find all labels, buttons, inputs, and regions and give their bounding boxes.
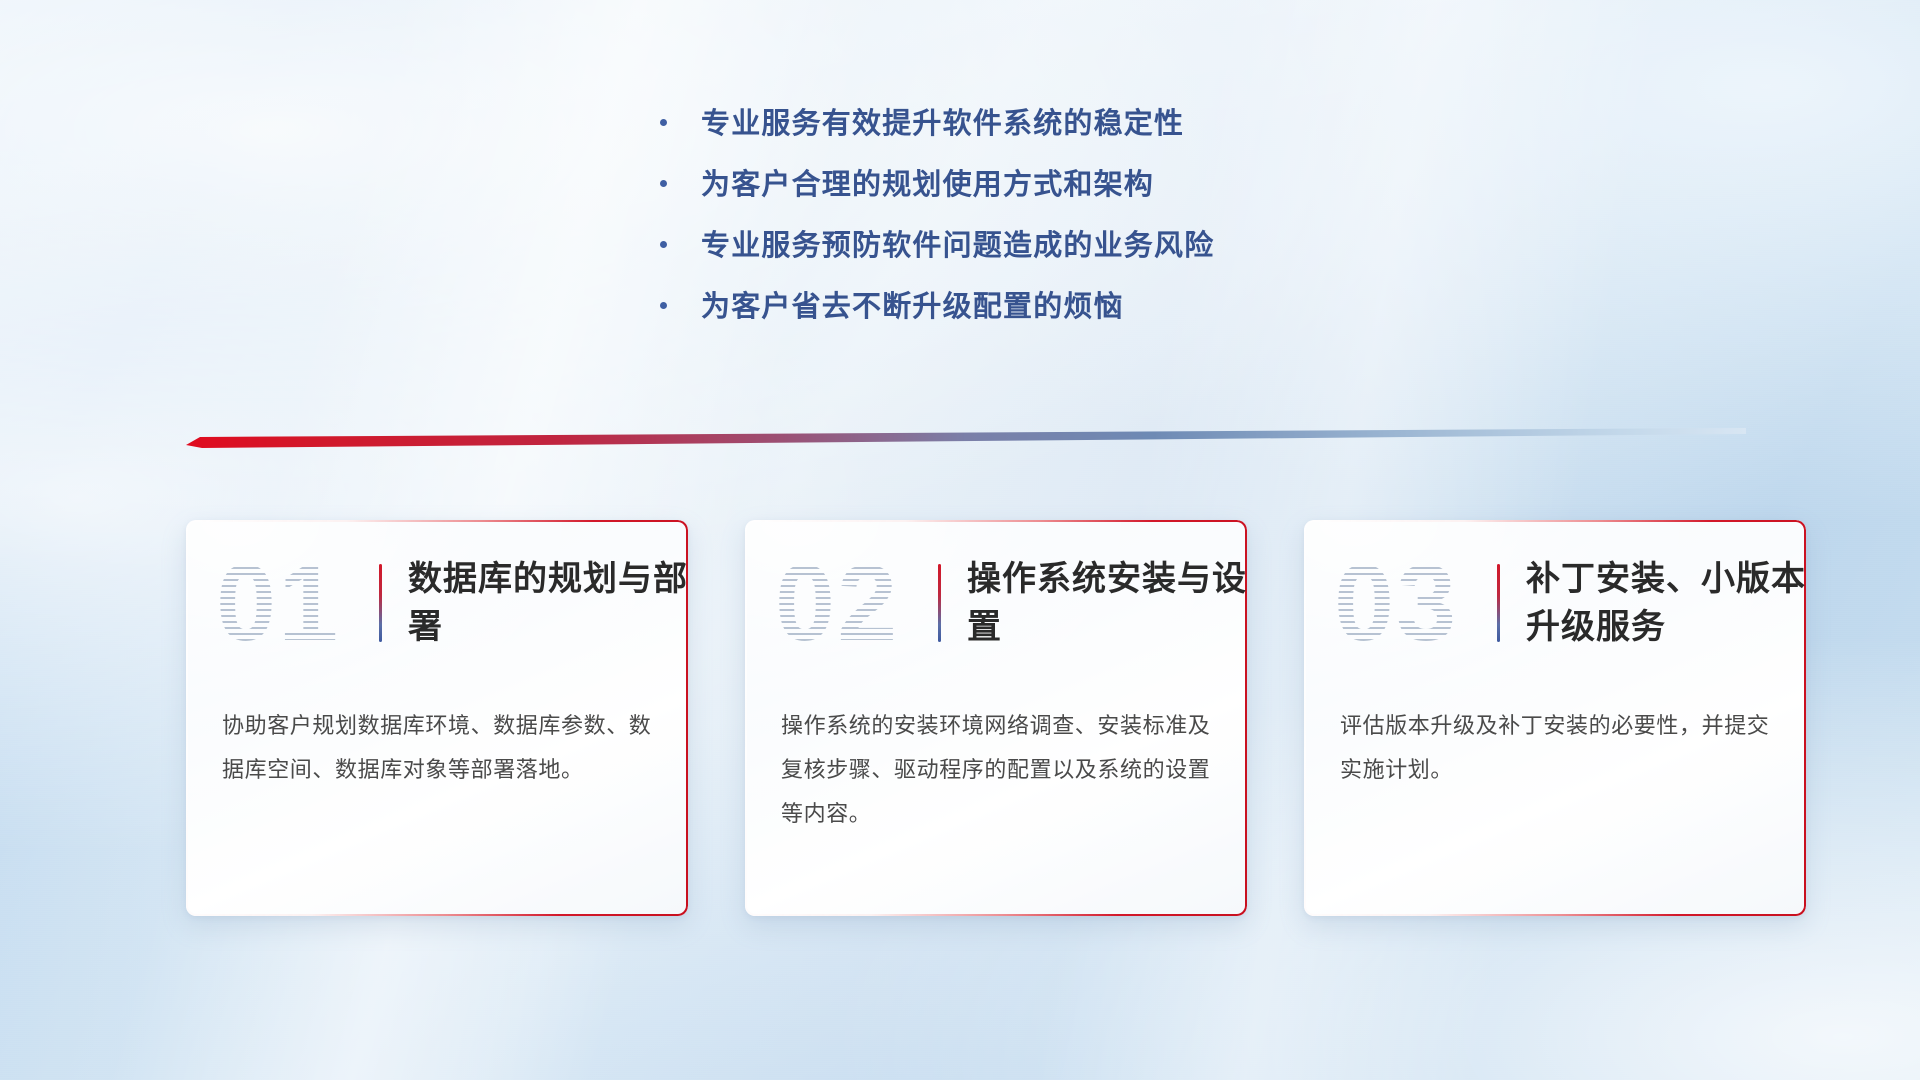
card-body-text: 协助客户规划数据库环境、数据库参数、数据库空间、数据库对象等部署落地。 bbox=[186, 686, 688, 792]
section-divider bbox=[186, 428, 1746, 454]
card-number: 02 bbox=[775, 549, 934, 657]
divider-shape-icon bbox=[186, 428, 1746, 454]
service-card[interactable]: 03 补丁安装、小版本升级服务 评估版本升级及补丁安装的必要性，并提交实施计划。 bbox=[1304, 520, 1806, 916]
bullet-dot-icon bbox=[660, 119, 667, 126]
list-item: 为客户省去不断升级配置的烦恼 bbox=[660, 293, 1214, 322]
card-separator bbox=[938, 564, 941, 642]
card-title: 操作系统安装与设置 bbox=[967, 555, 1247, 652]
card-separator bbox=[379, 564, 382, 642]
card-header: 02 操作系统安装与设置 bbox=[745, 520, 1247, 686]
service-card[interactable]: 02 操作系统安装与设置 操作系统的安装环境网络调查、安装标准及复核步骤、驱动程… bbox=[745, 520, 1247, 916]
card-header: 03 补丁安装、小版本升级服务 bbox=[1304, 520, 1806, 686]
bullet-text: 专业服务预防软件问题造成的业务风险 bbox=[701, 232, 1214, 261]
bullet-dot-icon bbox=[660, 241, 667, 248]
card-body-text: 评估版本升级及补丁安装的必要性，并提交实施计划。 bbox=[1304, 686, 1806, 792]
bullet-text: 为客户合理的规划使用方式和架构 bbox=[701, 171, 1154, 200]
bullet-text: 为客户省去不断升级配置的烦恼 bbox=[701, 293, 1124, 322]
bullet-dot-icon bbox=[660, 180, 667, 187]
list-item: 专业服务有效提升软件系统的稳定性 bbox=[660, 110, 1214, 139]
list-item: 专业服务预防软件问题造成的业务风险 bbox=[660, 232, 1214, 261]
benefits-bullet-list: 专业服务有效提升软件系统的稳定性 为客户合理的规划使用方式和架构 专业服务预防软… bbox=[660, 110, 1214, 354]
card-separator bbox=[1497, 564, 1500, 642]
card-header: 01 数据库的规划与部署 bbox=[186, 520, 688, 686]
slide-canvas: 专业服务有效提升软件系统的稳定性 为客户合理的规划使用方式和架构 专业服务预防软… bbox=[0, 0, 1920, 1080]
card-title: 数据库的规划与部署 bbox=[408, 555, 688, 652]
bullet-dot-icon bbox=[660, 302, 667, 309]
bullet-text: 专业服务有效提升软件系统的稳定性 bbox=[701, 110, 1184, 139]
card-number: 01 bbox=[216, 549, 375, 657]
card-number: 03 bbox=[1334, 549, 1493, 657]
list-item: 为客户合理的规划使用方式和架构 bbox=[660, 171, 1214, 200]
card-title: 补丁安装、小版本升级服务 bbox=[1526, 555, 1806, 652]
service-card-list: 01 数据库的规划与部署 协助客户规划数据库环境、数据库参数、数据库空间、数据库… bbox=[186, 520, 1806, 916]
card-body-text: 操作系统的安装环境网络调查、安装标准及复核步骤、驱动程序的配置以及系统的设置等内… bbox=[745, 686, 1247, 836]
service-card[interactable]: 01 数据库的规划与部署 协助客户规划数据库环境、数据库参数、数据库空间、数据库… bbox=[186, 520, 688, 916]
